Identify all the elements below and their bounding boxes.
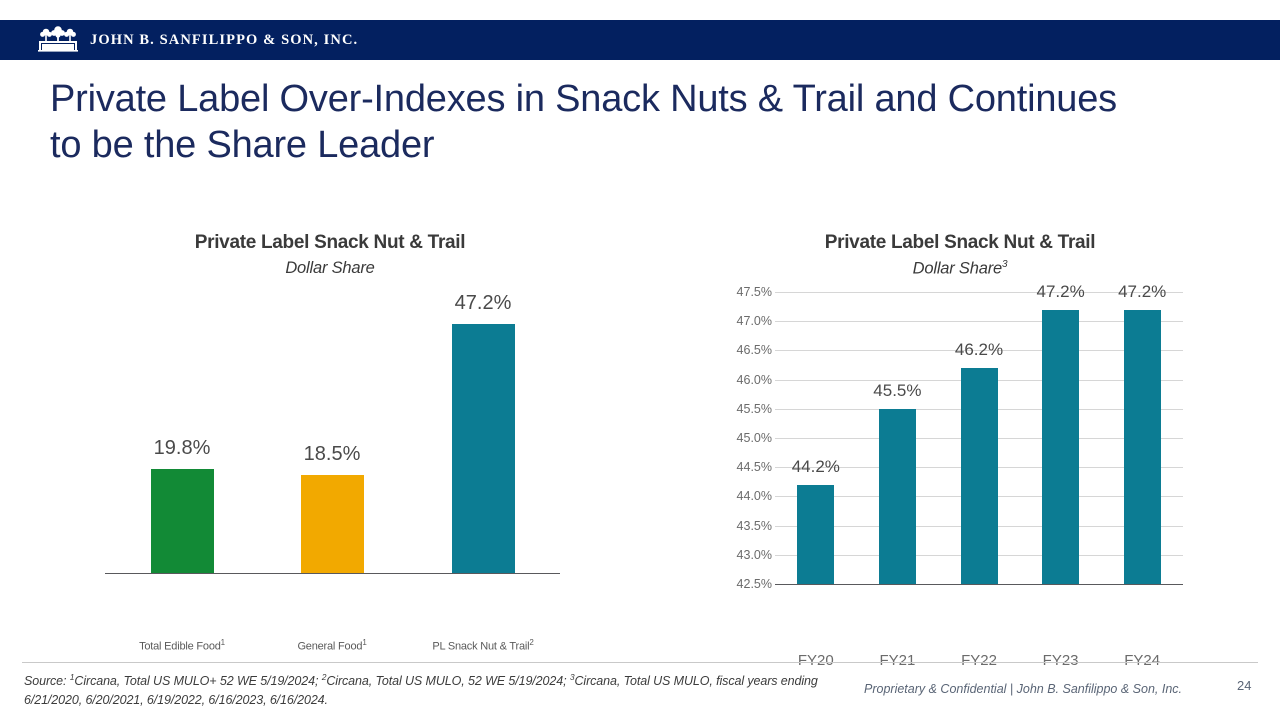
bar-total-edible-food: 19.8% — [151, 469, 214, 573]
bar-fy22: 46.2% — [961, 368, 998, 584]
chart-private-label-dollar-share-categories: Private Label Snack Nut & Trail Dollar S… — [70, 232, 590, 622]
bar-value-label: 18.5% — [304, 443, 361, 466]
bar-fill — [151, 469, 214, 573]
slide-title: Private Label Over-Indexes in Snack Nuts… — [50, 76, 1130, 168]
confidentiality-notice: Proprietary & Confidential | John B. San… — [864, 682, 1182, 696]
y-axis-tick-label: 44.0% — [737, 489, 772, 503]
category-footnote-marker: 1 — [362, 638, 366, 647]
sanfilippo-tree-logo-icon — [36, 25, 80, 55]
brand-header-bar: JOHN B. SANFILIPPO & SON, INC. — [0, 20, 1280, 60]
left-plot-area: 19.8% 18.5% 47.2% Total Edible Food1 Gen… — [105, 284, 560, 574]
left-chart-subtitle: Dollar Share — [70, 259, 590, 278]
bar-fill — [301, 475, 364, 573]
source-note: Source: 1Circana, Total US MULO+ 52 WE 5… — [24, 668, 834, 710]
x-axis-label-fy23: FY23 — [1043, 652, 1079, 669]
y-axis-tick-label: 43.5% — [737, 519, 772, 533]
bar-fill — [452, 324, 515, 573]
left-chart-title: Private Label Snack Nut & Trail — [70, 232, 590, 254]
category-text: General Food — [297, 641, 362, 653]
bar-fy21: 45.5% — [879, 409, 916, 584]
left-axis-baseline — [105, 573, 560, 574]
category-text: Total Edible Food — [139, 641, 221, 653]
y-axis-tick-label: 43.0% — [737, 548, 772, 562]
bar-value-label: 45.5% — [873, 381, 921, 401]
category-label-total-edible-food: Total Edible Food1 — [139, 638, 225, 653]
bar-value-label: 19.8% — [154, 437, 211, 460]
brand-name: JOHN B. SANFILIPPO & SON, INC. — [90, 32, 358, 49]
bar-value-label: 44.2% — [792, 457, 840, 477]
category-text: PL Snack Nut & Trail — [432, 641, 529, 653]
bar-value-label: 47.2% — [455, 292, 512, 315]
right-plot-area: 47.5%47.0%46.5%46.0%45.5%45.0%44.5%44.0%… — [775, 292, 1183, 584]
bar-value-label: 47.2% — [1118, 282, 1166, 302]
left-chart-subtitle-text: Dollar Share — [285, 259, 374, 277]
bar-fy24: 47.2% — [1124, 310, 1161, 584]
gridline — [775, 321, 1183, 322]
right-chart-subtitle-footnote-marker: 3 — [1002, 259, 1007, 270]
bar-value-label: 47.2% — [1036, 282, 1084, 302]
y-axis-tick-label: 47.5% — [737, 285, 772, 299]
y-axis-tick-label: 46.5% — [737, 343, 772, 357]
x-axis-label-fy22: FY22 — [961, 652, 997, 669]
page-number: 24 — [1237, 678, 1251, 693]
y-axis-tick-label: 47.0% — [737, 314, 772, 328]
bar-fy23: 47.2% — [1042, 310, 1079, 584]
right-chart-subtitle: Dollar Share3 — [700, 259, 1220, 279]
y-axis-tick-label: 42.5% — [737, 577, 772, 591]
category-label-general-food: General Food1 — [297, 638, 366, 653]
right-chart-title: Private Label Snack Nut & Trail — [700, 232, 1220, 254]
x-axis-label-fy20: FY20 — [798, 652, 834, 669]
category-label-pl-snack-nut-trail: PL Snack Nut & Trail2 — [432, 638, 533, 653]
category-footnote-marker: 2 — [529, 638, 533, 647]
right-chart-subtitle-text: Dollar Share — [913, 260, 1002, 278]
bar-fy20: 44.2% — [797, 485, 834, 584]
bar-value-label: 46.2% — [955, 340, 1003, 360]
bar-general-food: 18.5% — [301, 475, 364, 573]
y-axis-tick-label: 44.5% — [737, 460, 772, 474]
chart-private-label-dollar-share-trend: Private Label Snack Nut & Trail Dollar S… — [700, 232, 1220, 622]
source-text-2: Circana, Total US MULO, 52 WE 5/19/2024; — [326, 674, 569, 688]
footer-divider — [22, 662, 1258, 663]
y-axis-tick-label: 45.0% — [737, 431, 772, 445]
source-text-1: Circana, Total US MULO+ 52 WE 5/19/2024; — [74, 674, 321, 688]
source-prefix: Source: — [24, 674, 70, 688]
x-axis-label-fy21: FY21 — [879, 652, 915, 669]
bar-pl-snack-nut-trail: 47.2% — [452, 324, 515, 573]
y-axis-tick-label: 46.0% — [737, 373, 772, 387]
x-axis-label-fy24: FY24 — [1124, 652, 1160, 669]
category-footnote-marker: 1 — [221, 638, 225, 647]
gridline — [775, 584, 1183, 585]
y-axis-tick-label: 45.5% — [737, 402, 772, 416]
